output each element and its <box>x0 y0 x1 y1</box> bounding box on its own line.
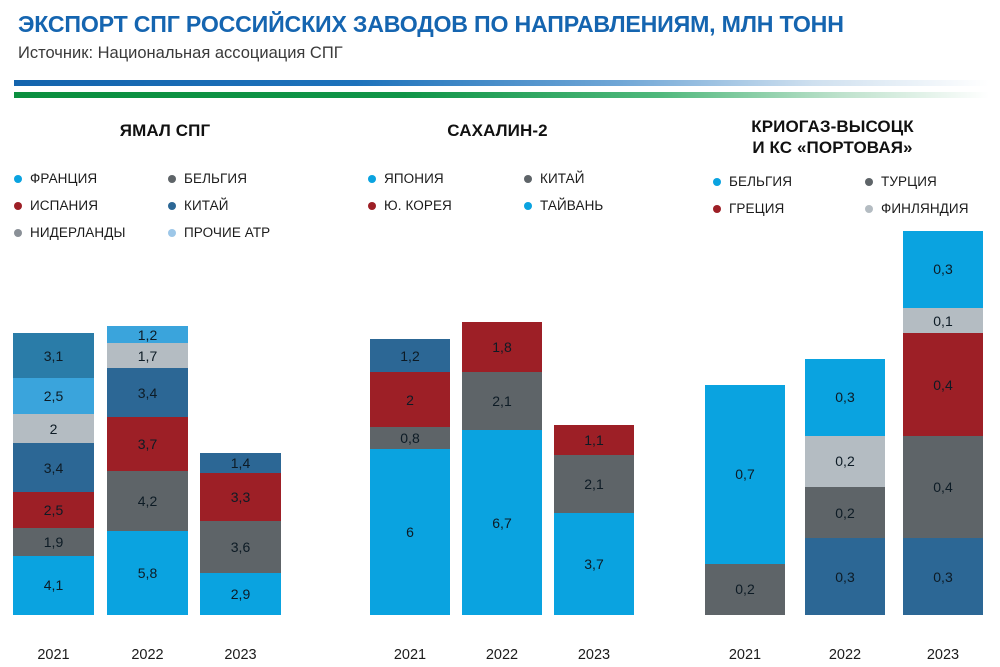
bar-segment[interactable]: 1,9 <box>13 528 94 555</box>
bar-segment-value-label: 2,5 <box>44 503 63 517</box>
bar-segment-value-label: 0,3 <box>933 262 952 276</box>
bar-segment[interactable]: 0,7 <box>705 385 785 564</box>
bar-segment-value-label: 0,2 <box>835 506 854 520</box>
bar-segment-value-label: 2,5 <box>44 389 63 403</box>
x-axis-tick-label: 2023 <box>903 647 983 663</box>
bar-segment[interactable]: 3,7 <box>107 417 188 470</box>
panel-title: САХАЛИН-2 <box>330 120 665 141</box>
bar-segment[interactable]: 3,1 <box>13 333 94 378</box>
legend-color-dot-icon <box>713 178 721 186</box>
legend-color-dot-icon <box>368 202 376 210</box>
bar-segment-value-label: 0,2 <box>735 582 754 596</box>
x-axis-tick-label: 2022 <box>462 647 542 663</box>
bar-segment[interactable]: 4,2 <box>107 471 188 532</box>
legend-item-label: ФИНЛЯНДИЯ <box>881 201 969 216</box>
legend-color-dot-icon <box>865 178 873 186</box>
legend-color-dot-icon <box>865 205 873 213</box>
bar-segment-value-label: 0,4 <box>933 480 952 494</box>
bar-segment[interactable]: 3,7 <box>554 513 634 615</box>
legend-item[interactable]: КИТАЙ <box>168 192 322 219</box>
legend-item-label: ЯПОНИЯ <box>384 171 444 186</box>
header: ЭКСПОРТ СПГ РОССИЙСКИХ ЗАВОДОВ ПО НАПРАВ… <box>0 0 1000 100</box>
bar-segment-value-label: 1,1 <box>584 433 603 447</box>
bar-segment-value-label: 6 <box>406 525 414 539</box>
x-axis-tick-label: 2022 <box>805 647 885 663</box>
infographic-root: ЭКСПОРТ СПГ РОССИЙСКИХ ЗАВОДОВ ПО НАПРАВ… <box>0 0 1000 667</box>
bar-segment[interactable]: 0,3 <box>903 538 983 615</box>
bar-segment-value-label: 0,3 <box>933 570 952 584</box>
bar-segment-value-label: 1,2 <box>138 328 157 342</box>
bar-segment[interactable]: 1,8 <box>462 322 542 372</box>
chart-legend: БЕЛЬГИЯТУРЦИЯГРЕЦИЯФИНЛЯНДИЯ <box>665 168 1000 222</box>
bar-segment-value-label: 3,4 <box>44 461 63 475</box>
bar-segment[interactable]: 5,8 <box>107 531 188 615</box>
bar-segment-value-label: 2 <box>50 422 58 436</box>
bar-segment-value-label: 3,3 <box>231 490 250 504</box>
bar-segment[interactable]: 0,2 <box>805 436 885 487</box>
chart-legend: ЯПОНИЯКИТАЙЮ. КОРЕЯТАЙВАНЬ <box>330 165 665 219</box>
bar-segment[interactable]: 1,7 <box>107 343 188 368</box>
bar-segment-value-label: 4,2 <box>138 494 157 508</box>
legend-item[interactable]: Ю. КОРЕЯ <box>368 192 518 219</box>
bar-segment-value-label: 1,9 <box>44 535 63 549</box>
legend-item[interactable]: ПРОЧИЕ АТР <box>168 219 322 246</box>
bar-segment-value-label: 0,1 <box>933 314 952 328</box>
bar-segment[interactable]: 3,4 <box>107 368 188 417</box>
divider-blue <box>14 80 989 86</box>
legend-item[interactable]: БЕЛЬГИЯ <box>713 168 863 195</box>
bar-stack[interactable]: 0,30,40,40,10,3 <box>903 231 983 615</box>
bar-stack[interactable]: 6,72,11,8 <box>462 322 542 615</box>
bar-segment[interactable]: 1,1 <box>554 425 634 455</box>
bar-segment[interactable]: 6,7 <box>462 430 542 615</box>
x-axis-tick-label: 2021 <box>13 647 94 663</box>
bar-segment-value-label: 4,1 <box>44 578 63 592</box>
bar-segment[interactable]: 0,2 <box>705 564 785 615</box>
legend-item-label: ИСПАНИЯ <box>30 198 98 213</box>
bar-segment-value-label: 3,7 <box>584 557 603 571</box>
bar-segment[interactable]: 4,1 <box>13 556 94 615</box>
bar-segment-value-label: 3,1 <box>44 349 63 363</box>
source-caption: Источник: Национальная ассоциация СПГ <box>18 44 343 63</box>
bar-segment[interactable]: 0,3 <box>805 538 885 615</box>
x-axis-tick-label: 2022 <box>107 647 188 663</box>
bar-segment[interactable]: 2,9 <box>200 573 281 615</box>
legend-item-label: КИТАЙ <box>540 171 585 186</box>
bar-stack[interactable]: 4,11,92,53,422,53,1 <box>13 333 94 615</box>
bar-segment-value-label: 0,4 <box>933 378 952 392</box>
panel-title: КРИОГАЗ-ВЫСОЦКИ КС «ПОРТОВАЯ» <box>665 116 1000 158</box>
legend-item[interactable]: ИСПАНИЯ <box>14 192 168 219</box>
chart-legend: ФРАНЦИЯБЕЛЬГИЯИСПАНИЯКИТАЙНИДЕРЛАНДЫПРОЧ… <box>0 165 330 246</box>
bar-segment[interactable]: 3,6 <box>200 521 281 573</box>
bar-segment-value-label: 0,3 <box>835 570 854 584</box>
legend-color-dot-icon <box>524 175 532 183</box>
legend-item[interactable]: ЯПОНИЯ <box>368 165 518 192</box>
bar-segment[interactable]: 2 <box>13 414 94 443</box>
bar-stack[interactable]: 5,84,23,73,41,71,2 <box>107 326 188 615</box>
legend-item[interactable]: ТАЙВАНЬ <box>524 192 674 219</box>
legend-item-label: Ю. КОРЕЯ <box>384 198 452 213</box>
x-axis-tick-label: 2023 <box>200 647 281 663</box>
bar-segment[interactable]: 3,4 <box>13 443 94 492</box>
bar-stack[interactable]: 2,93,63,31,4 <box>200 453 281 615</box>
bar-segment-value-label: 1,4 <box>231 456 250 470</box>
x-axis-tick-label: 2021 <box>705 647 785 663</box>
legend-item[interactable]: КИТАЙ <box>524 165 674 192</box>
bar-segment-value-label: 0,3 <box>835 390 854 404</box>
bar-segment[interactable]: 6 <box>370 449 450 615</box>
bar-segment[interactable]: 1,4 <box>200 453 281 473</box>
bar-stack[interactable]: 60,821,2 <box>370 339 450 615</box>
panel-title-line-1: КРИОГАЗ-ВЫСОЦК <box>665 116 1000 137</box>
legend-color-dot-icon <box>168 229 176 237</box>
bar-segment-value-label: 2 <box>406 393 414 407</box>
bar-segment[interactable]: 3,3 <box>200 473 281 521</box>
bar-segment-value-label: 2,1 <box>492 394 511 408</box>
bar-segment[interactable]: 0,4 <box>903 436 983 538</box>
chart-panel-sakhalin: САХАЛИН-2ЯПОНИЯКИТАЙЮ. КОРЕЯТАЙВАНЬ60,82… <box>330 110 665 667</box>
bar-segment[interactable]: 0,3 <box>903 231 983 308</box>
legend-color-dot-icon <box>14 175 22 183</box>
bar-stack[interactable]: 0,20,7 <box>705 385 785 615</box>
bar-segment-value-label: 3,7 <box>138 437 157 451</box>
legend-item[interactable]: НИДЕРЛАНДЫ <box>14 219 168 246</box>
legend-color-dot-icon <box>713 205 721 213</box>
bar-segment-value-label: 1,2 <box>400 349 419 363</box>
legend-item[interactable]: ГРЕЦИЯ <box>713 195 863 222</box>
legend-item[interactable]: ТУРЦИЯ <box>865 168 1000 195</box>
legend-item-label: ГРЕЦИЯ <box>729 201 784 216</box>
bar-segment[interactable]: 0,2 <box>805 487 885 538</box>
bar-segment-value-label: 6,7 <box>492 516 511 530</box>
x-axis-tick-label: 2021 <box>370 647 450 663</box>
bar-segment-value-label: 2,1 <box>584 477 603 491</box>
legend-item-label: ТУРЦИЯ <box>881 174 937 189</box>
bar-segment[interactable]: 0,8 <box>370 427 450 449</box>
bar-segment-value-label: 0,8 <box>400 431 419 445</box>
bar-segment[interactable]: 0,3 <box>805 359 885 436</box>
bar-stack[interactable]: 0,30,20,20,3 <box>805 359 885 615</box>
bar-segment-value-label: 1,7 <box>138 349 157 363</box>
bar-segment[interactable]: 2 <box>370 372 450 427</box>
bar-stack[interactable]: 3,72,11,1 <box>554 425 634 615</box>
panel-title-line-2: И КС «ПОРТОВАЯ» <box>665 137 1000 158</box>
legend-item-label: ФРАНЦИЯ <box>30 171 97 186</box>
x-axis-tick-label: 2023 <box>554 647 634 663</box>
legend-item-label: НИДЕРЛАНДЫ <box>30 225 126 240</box>
bar-segment-value-label: 0,2 <box>835 454 854 468</box>
legend-item-label: КИТАЙ <box>184 198 229 213</box>
bar-segment[interactable]: 2,5 <box>13 492 94 528</box>
bar-segment-value-label: 0,7 <box>735 467 754 481</box>
legend-color-dot-icon <box>168 175 176 183</box>
legend-color-dot-icon <box>14 202 22 210</box>
legend-color-dot-icon <box>524 202 532 210</box>
chart-panel-kriogaz: КРИОГАЗ-ВЫСОЦКИ КС «ПОРТОВАЯ»БЕЛЬГИЯТУРЦ… <box>665 110 1000 667</box>
page-title: ЭКСПОРТ СПГ РОССИЙСКИХ ЗАВОДОВ ПО НАПРАВ… <box>18 11 844 38</box>
legend-color-dot-icon <box>14 229 22 237</box>
legend-item-label: БЕЛЬГИЯ <box>729 174 792 189</box>
legend-item-label: ТАЙВАНЬ <box>540 198 603 213</box>
legend-item-label: БЕЛЬГИЯ <box>184 171 247 186</box>
divider-green <box>14 92 989 98</box>
legend-color-dot-icon <box>168 202 176 210</box>
bar-segment-value-label: 1,8 <box>492 340 511 354</box>
chart-panel-yamal: ЯМАЛ СПГФРАНЦИЯБЕЛЬГИЯИСПАНИЯКИТАЙНИДЕРЛ… <box>0 110 330 667</box>
legend-color-dot-icon <box>368 175 376 183</box>
bar-segment-value-label: 3,4 <box>138 386 157 400</box>
bar-segment[interactable]: 0,1 <box>903 308 983 334</box>
legend-item[interactable]: ФРАНЦИЯ <box>14 165 168 192</box>
bar-segment[interactable]: 2,5 <box>13 378 94 414</box>
legend-item-label: ПРОЧИЕ АТР <box>184 225 270 240</box>
panel-title: ЯМАЛ СПГ <box>0 120 330 141</box>
bar-segment[interactable]: 1,2 <box>370 339 450 372</box>
bar-segment[interactable]: 0,4 <box>903 333 983 435</box>
bar-segment-value-label: 3,6 <box>231 540 250 554</box>
legend-item[interactable]: БЕЛЬГИЯ <box>168 165 322 192</box>
bar-segment[interactable]: 2,1 <box>462 372 542 430</box>
bar-segment[interactable]: 1,2 <box>107 326 188 343</box>
legend-item[interactable]: ФИНЛЯНДИЯ <box>865 195 1000 222</box>
bar-segment[interactable]: 2,1 <box>554 455 634 513</box>
bar-segment-value-label: 2,9 <box>231 587 250 601</box>
bar-segment-value-label: 5,8 <box>138 566 157 580</box>
